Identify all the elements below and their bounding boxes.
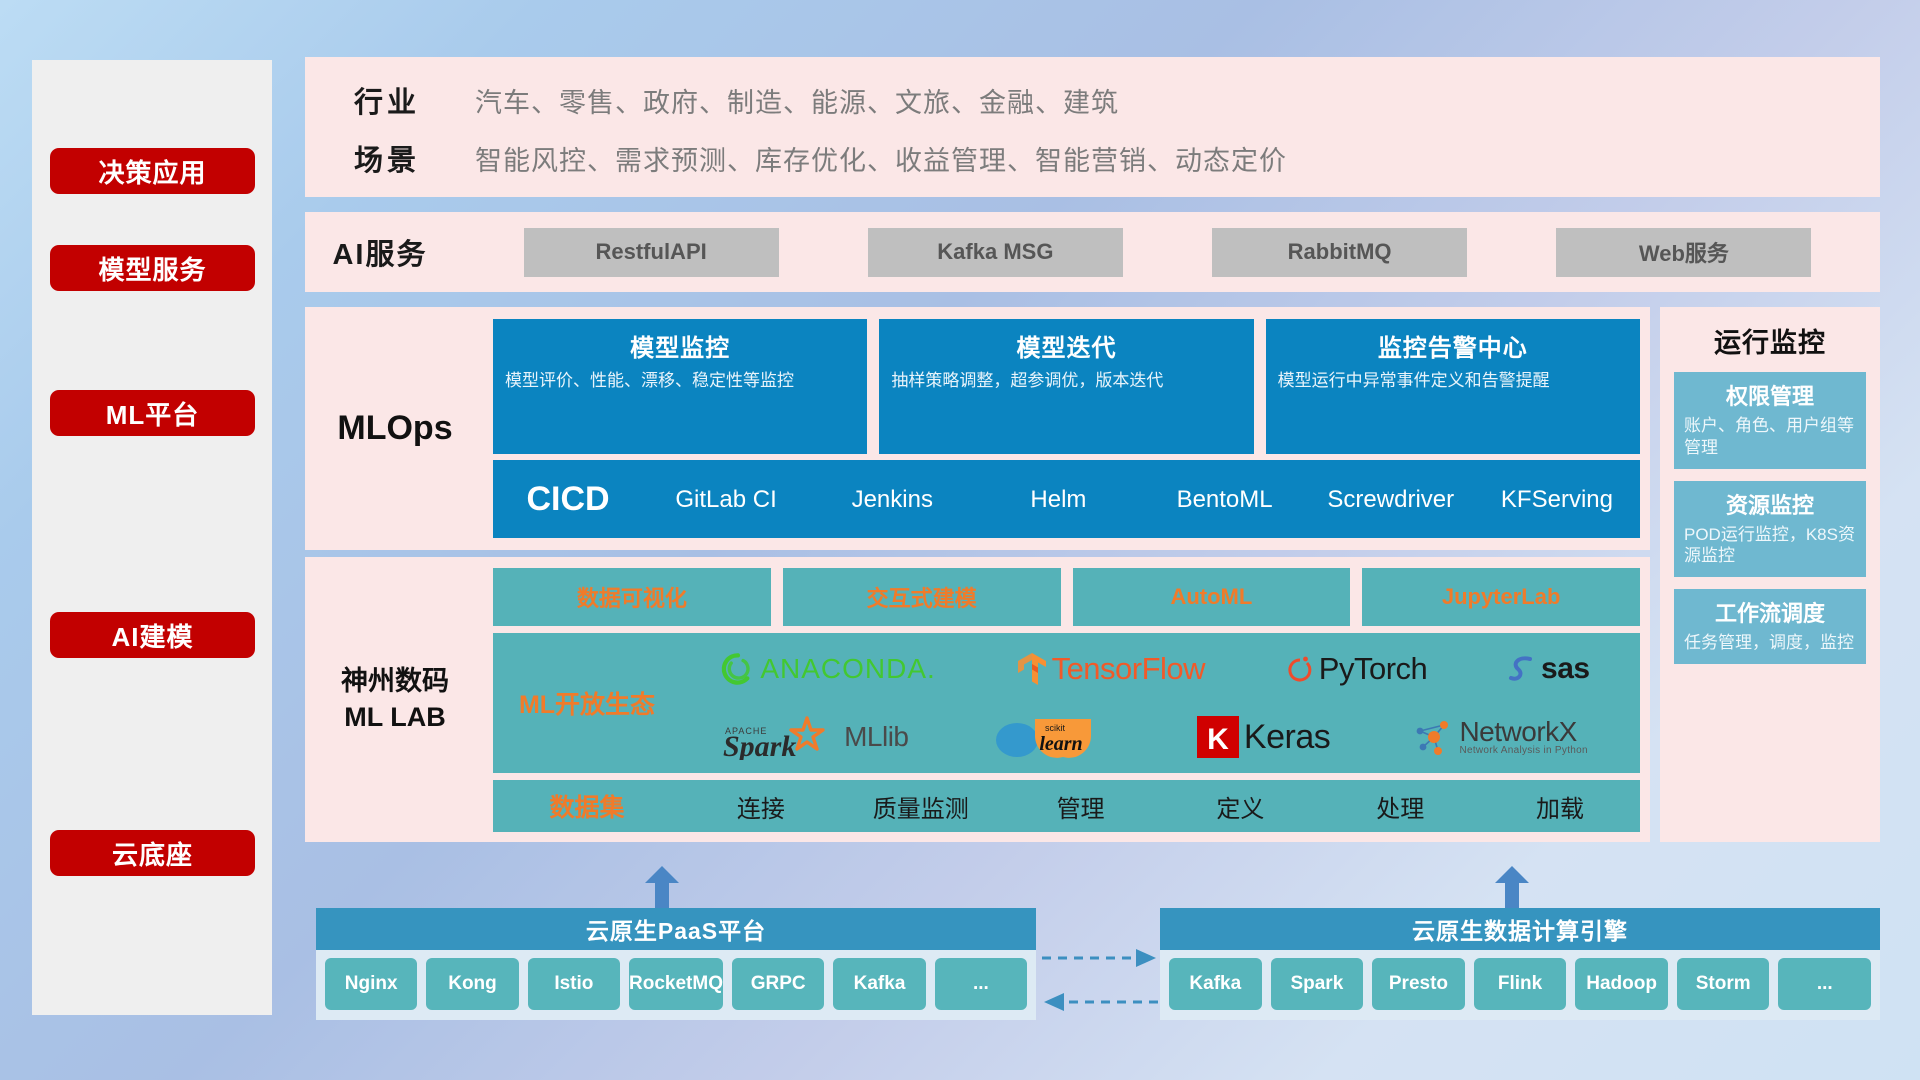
ml-lab-label: 神州数码 ML LAB [305,557,485,842]
cicd-item-gitlab-ci[interactable]: GitLab CI [643,486,809,512]
scikit-learn-icon: scikit learn [993,713,1113,761]
pytorch-wordmark: PyTorch [1319,651,1427,687]
architecture-diagram: 决策应用 模型服务 ML平台 AI建模 云底座 行业 汽车、零售、政府、制造、能… [0,0,1920,1080]
card-title: 监控告警中心 [1278,328,1628,363]
cloud-paas-chip-group: Nginx Kong Istio RocketMQ GRPC Kafka ... [316,950,1036,1020]
pytorch-icon [1286,653,1314,685]
ml-open-ecosystem: ML开放生态 ANACONDA. [493,633,1640,773]
cloud-data-engine-title: 云原生数据计算引擎 [1160,908,1880,950]
rail-chip-model-service[interactable]: 模型服务 [50,245,255,291]
card-desc: POD运行监控，K8S资源监控 [1684,524,1856,568]
keras-logo: K Keras [1197,716,1330,758]
svg-text:K: K [1207,723,1229,756]
chip-hadoop[interactable]: Hadoop [1575,958,1668,1010]
service-box-kafka-msg[interactable]: Kafka MSG [868,228,1123,277]
service-box-web[interactable]: Web服务 [1556,228,1811,277]
chip-kafka[interactable]: Kafka [833,958,925,1010]
chip-flink[interactable]: Flink [1474,958,1567,1010]
cicd-item-helm[interactable]: Helm [975,486,1141,512]
chip-spark[interactable]: Spark [1271,958,1364,1010]
monitoring-card-workflow[interactable]: 工作流调度 任务管理，调度，监控 [1674,589,1866,664]
data-engine-up-arrow [1495,866,1529,904]
rail-chip-cloud-base[interactable]: 云底座 [50,830,255,876]
svg-text:Spark: Spark [723,730,796,760]
dataset-item-connect[interactable]: 连接 [681,789,841,824]
mlops-panel: MLOps 模型监控 模型评价、性能、漂移、稳定性等监控 模型迭代 抽样策略调整… [305,307,1650,550]
chip-storm[interactable]: Storm [1677,958,1770,1010]
cicd-item-screwdriver[interactable]: Screwdriver [1308,486,1474,512]
ml-lab-label-line2: ML LAB [344,700,446,736]
cicd-label: CICD [493,480,643,519]
monitoring-card-permission[interactable]: 权限管理 账户、角色、用户组等管理 [1674,372,1866,469]
spark-icon: APACHE Spark [723,714,839,760]
cloud-data-engine-chip-group: Kafka Spark Presto Flink Hadoop Storm ..… [1160,950,1880,1020]
svg-text:learn: learn [1039,733,1082,755]
ml-lab-label-line1: 神州数码 [341,664,449,700]
bidirectional-link-arrows [1040,940,1160,1030]
card-desc: 抽样策略调整，超参调优，版本迭代 [891,370,1241,392]
ai-service-panel: AI服务 RestfulAPI Kafka MSG RabbitMQ Web服务 [305,212,1880,292]
cloud-data-engine-block: 云原生数据计算引擎 Kafka Spark Presto Flink Hadoo… [1160,908,1880,1020]
card-desc: 账户、角色、用户组等管理 [1684,415,1856,459]
dataset-bar: 数据集 连接 质量监测 管理 定义 处理 加载 [493,780,1640,832]
networkx-logo: NetworkX Network Analysis in Python [1414,717,1587,757]
dataset-item-process[interactable]: 处理 [1320,789,1480,824]
service-box-restfulapi[interactable]: RestfulAPI [524,228,779,277]
ml-lab-tab-group: 数据可视化 交互式建模 AutoML JupyterLab [493,568,1640,626]
anaconda-logo: ANACONDA. [721,652,935,686]
keras-icon: K [1197,716,1239,758]
service-box-rabbitmq[interactable]: RabbitMQ [1212,228,1467,277]
tab-automl[interactable]: AutoML [1073,568,1351,626]
rail-chip-ml-platform[interactable]: ML平台 [50,390,255,436]
card-desc: 任务管理，调度，监控 [1684,632,1856,654]
tab-data-visualization[interactable]: 数据可视化 [493,568,771,626]
rail-chip-decision-app[interactable]: 决策应用 [50,148,255,194]
dataset-item-quality[interactable]: 质量监测 [841,789,1001,824]
anaconda-icon [721,652,755,686]
cicd-item-kfserving[interactable]: KFServing [1474,486,1640,512]
tensorflow-icon [1017,652,1047,686]
card-desc: 模型评价、性能、漂移、稳定性等监控 [505,370,855,392]
dataset-label: 数据集 [493,788,681,824]
tab-interactive-modeling[interactable]: 交互式建模 [783,568,1061,626]
cicd-item-jenkins[interactable]: Jenkins [809,486,975,512]
dataset-item-manage[interactable]: 管理 [1001,789,1161,824]
scikit-learn-logo: scikit learn [993,713,1113,761]
ai-service-box-group: RestfulAPI Kafka MSG RabbitMQ Web服务 [455,228,1880,277]
chip-nginx[interactable]: Nginx [325,958,417,1010]
ml-open-ecosystem-label: ML开放生态 [493,685,681,721]
chip-grpc[interactable]: GRPC [732,958,824,1010]
networkx-wordmark: NetworkX [1459,718,1587,746]
runtime-monitoring-title: 运行监控 [1660,321,1880,360]
logo-row-1: ANACONDA. TensorFlow [681,637,1630,701]
chip-istio[interactable]: Istio [528,958,620,1010]
paas-up-arrow [645,866,679,904]
sas-wordmark: sas [1541,652,1590,686]
card-title: 模型监控 [505,328,855,363]
tensorflow-logo: TensorFlow [1017,651,1206,687]
ai-service-label: AI服务 [305,231,455,273]
keras-wordmark: Keras [1244,718,1330,757]
scenario-values: 智能风控、需求预测、库存优化、收益管理、智能营销、动态定价 [475,139,1287,178]
spark-mllib-logo: APACHE Spark MLlib [723,714,908,760]
application-panel: 行业 汽车、零售、政府、制造、能源、文旅、金融、建筑 场景 智能风控、需求预测、… [305,57,1880,197]
logo-grid: ANACONDA. TensorFlow [681,637,1640,769]
sas-icon [1508,654,1536,684]
cloud-paas-block: 云原生PaaS平台 Nginx Kong Istio RocketMQ GRPC… [316,908,1036,1020]
pytorch-logo: PyTorch [1286,651,1427,687]
dataset-item-load[interactable]: 加载 [1480,789,1640,824]
chip-more[interactable]: ... [1778,958,1871,1010]
networkx-icon [1414,717,1454,757]
tensorflow-wordmark: TensorFlow [1052,651,1206,687]
cicd-bar: CICD GitLab CI Jenkins Helm BentoML Scre… [493,460,1640,538]
scenario-row: 场景 智能风控、需求预测、库存优化、收益管理、智能营销、动态定价 [327,137,1287,179]
monitoring-card-resource[interactable]: 资源监控 POD运行监控，K8S资源监控 [1674,481,1866,578]
chip-more[interactable]: ... [935,958,1027,1010]
chip-kafka[interactable]: Kafka [1169,958,1262,1010]
card-title: 资源监控 [1684,488,1856,520]
mlops-card-alert-center[interactable]: 监控告警中心 模型运行中异常事件定义和告警提醒 [1266,319,1640,454]
card-title: 权限管理 [1684,379,1856,411]
networkx-tagline: Network Analysis in Python [1459,746,1587,756]
chip-kong[interactable]: Kong [426,958,518,1010]
runtime-monitoring-panel: 运行监控 权限管理 账户、角色、用户组等管理 资源监控 POD运行监控，K8S资… [1660,307,1880,842]
ml-lab-panel: 神州数码 ML LAB 数据可视化 交互式建模 AutoML JupyterLa… [305,557,1650,842]
chip-rocketmq[interactable]: RocketMQ [629,958,723,1010]
anaconda-wordmark: ANACONDA. [760,653,935,685]
tab-jupyterlab[interactable]: JupyterLab [1362,568,1640,626]
card-title: 模型迭代 [891,328,1241,363]
mlops-card-model-iteration[interactable]: 模型迭代 抽样策略调整，超参调优，版本迭代 [879,319,1253,454]
cloud-paas-title: 云原生PaaS平台 [316,908,1036,950]
svg-text:scikit: scikit [1045,723,1065,733]
mlops-card-group: 模型监控 模型评价、性能、漂移、稳定性等监控 模型迭代 抽样策略调整，超参调优，… [493,319,1640,454]
cicd-item-bentoml[interactable]: BentoML [1142,486,1308,512]
mllib-wordmark: MLlib [844,721,908,753]
industry-values: 汽车、零售、政府、制造、能源、文旅、金融、建筑 [475,81,1119,120]
sas-logo: sas [1508,652,1590,686]
mlops-card-model-monitor[interactable]: 模型监控 模型评价、性能、漂移、稳定性等监控 [493,319,867,454]
chip-presto[interactable]: Presto [1372,958,1465,1010]
industry-row: 行业 汽车、零售、政府、制造、能源、文旅、金融、建筑 [327,79,1119,121]
layer-rail: 决策应用 模型服务 ML平台 AI建模 云底座 [32,60,272,1015]
scenario-label: 场景 [327,137,447,179]
rail-chip-ai-modeling[interactable]: AI建模 [50,612,255,658]
card-title: 工作流调度 [1684,596,1856,628]
mlops-label: MLOps [305,307,485,550]
industry-label: 行业 [327,79,447,121]
logo-row-2: APACHE Spark MLlib scikit learn [681,705,1630,769]
card-desc: 模型运行中异常事件定义和告警提醒 [1278,370,1628,392]
dataset-item-define[interactable]: 定义 [1160,789,1320,824]
